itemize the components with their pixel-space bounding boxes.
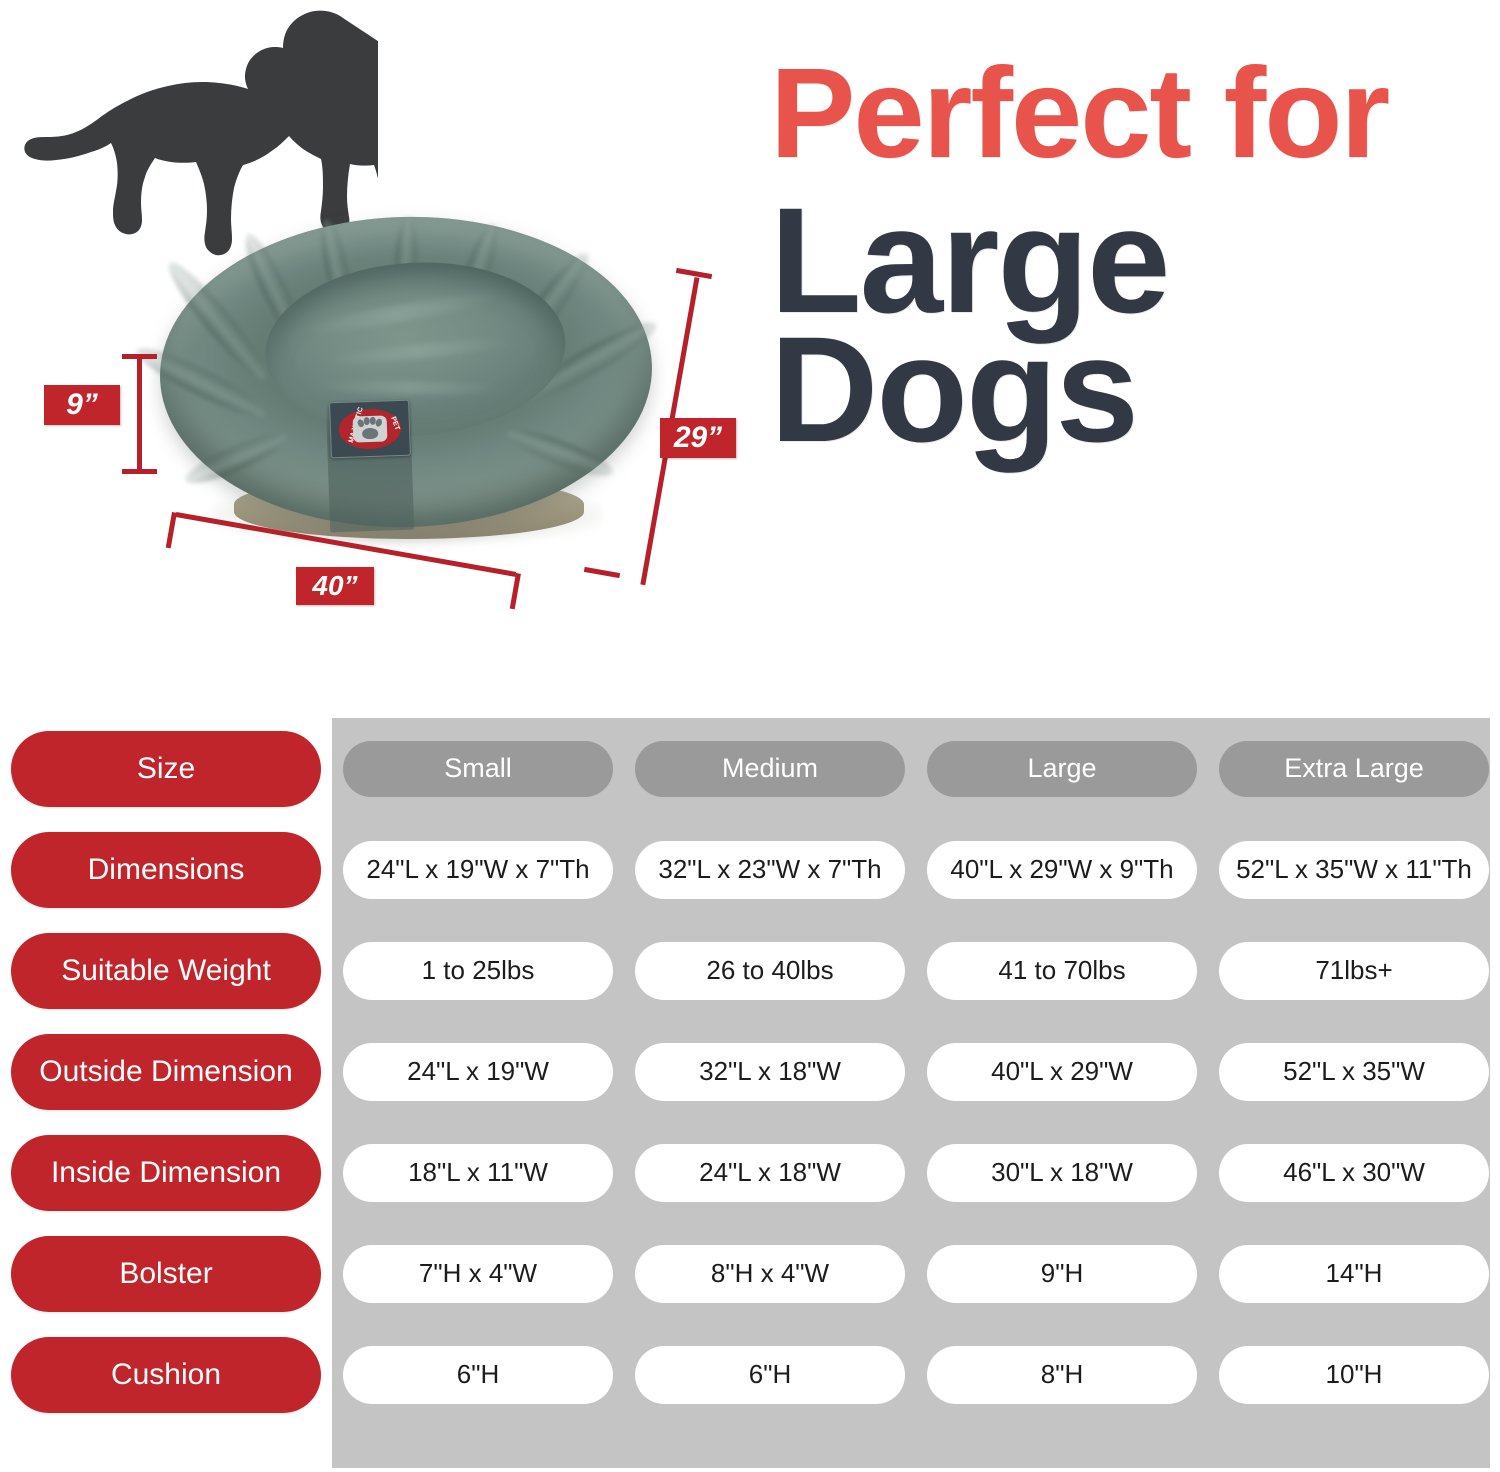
cell-dimensions-extra-large: 52"L x 35"W x 11"Th xyxy=(1219,841,1489,899)
headline-line-1: Perfect for xyxy=(770,56,1490,171)
cell-outside-extra-large: 52"L x 35"W xyxy=(1219,1043,1489,1101)
cell-inside-extra-large: 46"L x 30"W xyxy=(1219,1144,1489,1202)
cell-dimensions-small: 24"L x 19"W x 7"Th xyxy=(343,841,613,899)
column-header-extra-large: Extra Large xyxy=(1219,741,1489,797)
length-measurement-label: 40” xyxy=(296,567,374,605)
cell-dimensions-large: 40"L x 29"W x 9"Th xyxy=(927,841,1197,899)
length-ruler-cap-right xyxy=(510,573,521,609)
cell-outside-small: 24"L x 19"W xyxy=(343,1043,613,1101)
cell-cushion-large: 8"H xyxy=(927,1346,1197,1404)
paw-print-icon xyxy=(353,415,388,442)
cell-cushion-small: 6"H xyxy=(343,1346,613,1404)
spec-table-grid: Size Dimensions Suitable Weight Outside … xyxy=(0,700,1500,1472)
height-measurement-label: 9” xyxy=(44,385,120,425)
cell-weight-small: 1 to 25lbs xyxy=(343,942,613,1000)
cell-bolster-small: 7"H x 4"W xyxy=(343,1245,613,1303)
cell-inside-small: 18"L x 11"W xyxy=(343,1144,613,1202)
width-measurement-label: 29” xyxy=(660,418,736,458)
brand-logo-oval: MAJESTIC PET xyxy=(338,408,401,450)
row-label-dimensions: Dimensions xyxy=(11,832,321,908)
cell-inside-large: 30"L x 18"W xyxy=(927,1144,1197,1202)
row-label-suitable-weight: Suitable Weight xyxy=(11,933,321,1009)
row-label-size: Size xyxy=(11,731,321,807)
hero-section: MAJESTIC PET 9” 40” 29” Perfect for Larg… xyxy=(0,0,1500,700)
headline-block: Perfect for Large Dogs xyxy=(770,56,1490,457)
cell-weight-extra-large: 71lbs+ xyxy=(1219,942,1489,1000)
column-header-large: Large xyxy=(927,741,1197,797)
row-label-inside-dimension: Inside Dimension xyxy=(11,1135,321,1211)
cell-cushion-extra-large: 10"H xyxy=(1219,1346,1489,1404)
row-label-bolster: Bolster xyxy=(11,1236,321,1312)
cell-outside-medium: 32"L x 18"W xyxy=(635,1043,905,1101)
width-ruler-cap-bottom xyxy=(584,567,620,578)
cell-weight-medium: 26 to 40lbs xyxy=(635,942,905,1000)
row-label-cushion: Cushion xyxy=(11,1337,321,1413)
cell-cushion-medium: 6"H xyxy=(635,1346,905,1404)
cell-inside-medium: 24"L x 18"W xyxy=(635,1144,905,1202)
product-dog-bed-image: MAJESTIC PET xyxy=(152,205,652,560)
bed-inner-cushion xyxy=(261,255,570,442)
height-ruler-cap-top xyxy=(122,354,157,359)
cell-bolster-large: 9"H xyxy=(927,1245,1197,1303)
cell-bolster-medium: 8"H x 4"W xyxy=(635,1245,905,1303)
spec-table-section: Size Dimensions Suitable Weight Outside … xyxy=(0,700,1500,1472)
row-label-outside-dimension: Outside Dimension xyxy=(11,1034,321,1110)
height-ruler-cap-bottom xyxy=(122,469,157,474)
cell-weight-large: 41 to 70lbs xyxy=(927,942,1197,1000)
cell-dimensions-medium: 32"L x 23"W x 7"Th xyxy=(635,841,905,899)
cell-bolster-extra-large: 14"H xyxy=(1219,1245,1489,1303)
column-header-small: Small xyxy=(343,741,613,797)
column-header-medium: Medium xyxy=(635,741,905,797)
headline-line-3: Dogs xyxy=(770,322,1490,457)
brand-tag: MAJESTIC PET xyxy=(329,400,411,459)
height-ruler-line xyxy=(137,356,142,473)
brand-tag-text-right: PET xyxy=(389,416,400,432)
cell-outside-large: 40"L x 29"W xyxy=(927,1043,1197,1101)
